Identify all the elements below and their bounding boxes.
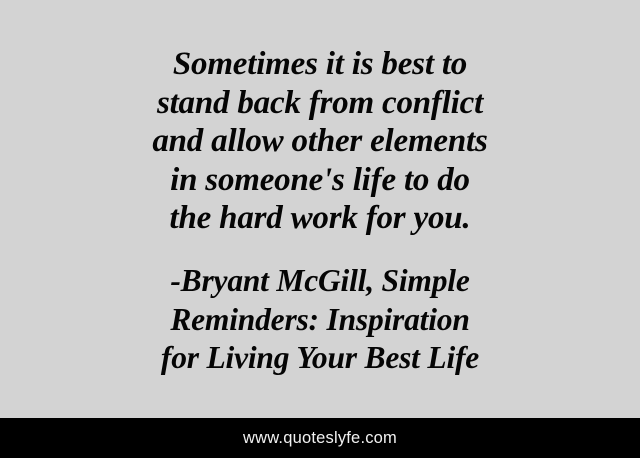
quote-line: the hard work for you.: [18, 199, 622, 238]
quote-text: Sometimes it is best to stand back from …: [0, 45, 640, 238]
quote-line: and allow other elements: [18, 122, 622, 161]
quote-line: stand back from conflict: [18, 84, 622, 123]
quote-body: Sometimes it is best to stand back from …: [0, 0, 640, 418]
attribution-line: -Bryant McGill, Simple: [18, 262, 622, 301]
quote-attribution: -Bryant McGill, Simple Reminders: Inspir…: [0, 262, 640, 378]
quote-line: Sometimes it is best to: [18, 45, 622, 84]
attribution-line: for Living Your Best Life: [18, 339, 622, 378]
attribution-line: Reminders: Inspiration: [18, 301, 622, 340]
quote-card: Sometimes it is best to stand back from …: [0, 0, 640, 458]
site-url-label: www.quoteslyfe.com: [243, 430, 397, 447]
quote-line: in someone's life to do: [18, 161, 622, 200]
footer-bar: www.quoteslyfe.com: [0, 418, 640, 458]
